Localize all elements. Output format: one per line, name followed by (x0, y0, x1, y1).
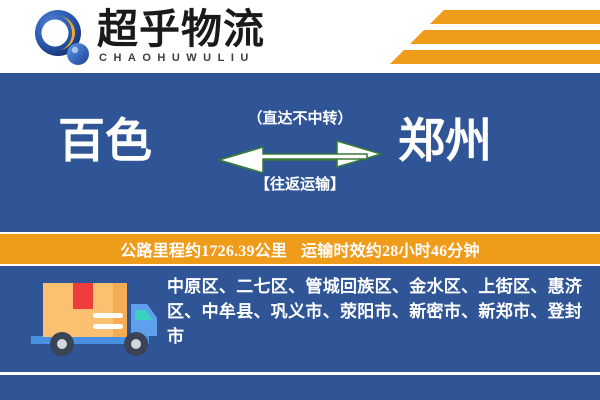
stripe-3 (390, 50, 600, 64)
footer-blue-band (0, 375, 600, 400)
stripe-1 (430, 10, 600, 24)
logistics-route-banner: 超乎物流 CHAOHUWULIU 百色 （直达不中转） 【往返运输】 郑州 (0, 0, 600, 400)
coverage-section: 中原区、二七区、管城回族区、金水区、上街区、惠济区、中牟县、巩义市、荥阳市、新密… (0, 266, 600, 372)
circle-crescent-logo-icon (33, 9, 91, 67)
banner-header: 超乎物流 CHAOHUWULIU (0, 0, 600, 73)
route-info-bar: 公路里程约1726.39公里 运输时效约28小时46分钟 (0, 232, 600, 266)
direct-route-note: （直达不中转） (200, 109, 400, 129)
stripe-2 (410, 30, 600, 44)
origin-city: 百色 (58, 113, 152, 171)
destination-city: 郑州 (398, 113, 492, 171)
bidirectional-arrow-icon (215, 135, 385, 173)
brand-name-en: CHAOHUWULIU (99, 52, 255, 64)
covered-districts-text: 中原区、二七区、管城回族区、金水区、上街区、惠济区、中牟县、巩义市、荥阳市、新密… (167, 274, 587, 349)
header-stripes-decoration (330, 0, 600, 73)
duration-text: 运输时效约28小时46分钟 (301, 237, 480, 261)
route-middle-group: （直达不中转） 【往返运输】 (200, 109, 400, 219)
round-trip-note: 【往返运输】 (200, 175, 400, 195)
brand-name-cn: 超乎物流 (97, 6, 265, 52)
delivery-truck-icon (23, 274, 158, 362)
route-section: 百色 （直达不中转） 【往返运输】 郑州 (0, 73, 600, 232)
distance-text: 公路里程约1726.39公里 (120, 237, 287, 261)
